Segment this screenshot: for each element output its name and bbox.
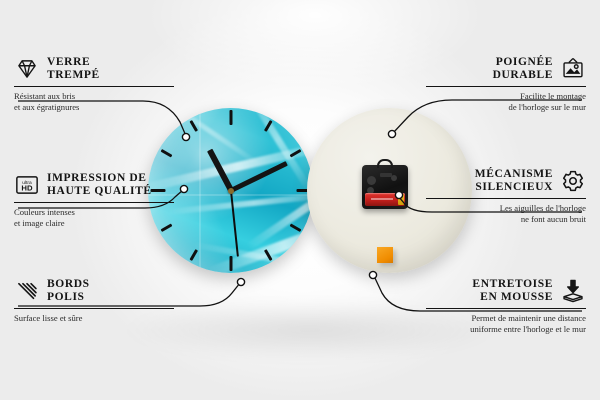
feature-title-line2: HAUTE QUALITÉ [47,185,152,197]
feature-title-line2: POLIS [47,291,85,303]
feature-title-line1: ENTRETOISE [472,278,553,290]
divider [14,86,174,87]
divider [426,86,586,87]
feature-verre-trempe: VERRE TREMPÉ Résistant aux bris et aux é… [14,56,174,113]
feature-title-line2: DURABLE [493,69,553,81]
feature-desc-line1: Les aiguilles de l'horloge [500,203,586,213]
divider [14,308,174,309]
feature-title-line1: MÉCANISME [475,168,553,180]
connector-endpoint-bords-polis [237,278,244,285]
feature-title-line1: VERRE [47,56,90,68]
feature-mecanisme-silencieux: MÉCANISME SILENCIEUX Les aiguilles de l'… [426,168,586,225]
feature-entretoise-en-mousse: ENTRETOISE EN MOUSSE Permet de maintenir… [426,278,586,335]
svg-text:HD: HD [21,184,33,193]
feature-desc-line1: Surface lisse et sûre [14,313,83,323]
divider [426,198,586,199]
feature-title-line2: EN MOUSSE [480,291,553,303]
connector-endpoint-mecanisme [395,191,402,198]
feature-bords-polis: BORDS POLIS Surface lisse et sûre [14,278,174,324]
feature-desc-line2: ne font aucun bruit [521,214,586,224]
connector-endpoint-verre-trempe [182,133,189,140]
feature-desc-line2: et aux égratignures [14,102,79,112]
feature-title-line1: BORDS [47,278,90,290]
connector-endpoint-impression [180,185,187,192]
feature-desc-line2: et image claire [14,218,65,228]
feature-title-line1: IMPRESSION DE [47,172,147,184]
feature-desc-line1: Permet de maintenir une distance [471,313,586,323]
feature-title-line2: SILENCIEUX [475,181,553,193]
ultra-hd-icon: ultra HD [14,172,40,198]
feature-desc-line2: uniforme entre l'horloge et le mur [470,324,586,334]
gear-icon [560,168,586,194]
connector-endpoint-poignee [388,130,395,137]
wall-mount-picture-icon [560,56,586,82]
feature-poignee-durable: POIGNÉE DURABLE Facilite le montage de l… [426,56,586,113]
infographic-stage: VERRE TREMPÉ Résistant aux bris et aux é… [0,0,600,400]
feature-desc-line1: Résistant aux bris [14,91,75,101]
foam-spacer-arrow-icon [560,278,586,304]
connector-endpoint-entretoise [369,271,376,278]
feature-desc-line1: Couleurs intenses [14,207,75,217]
divider [14,202,174,203]
feature-desc-line2: de l'horloge sur le mur [509,102,586,112]
feature-impression-haute-qualite: ultra HD IMPRESSION DE HAUTE QUALITÉ Cou… [14,172,174,229]
feature-title-line2: TREMPÉ [47,69,100,81]
divider [426,308,586,309]
diamond-icon [14,56,40,82]
feature-title-line1: POIGNÉE [496,56,553,68]
feature-desc-line1: Facilite le montage [520,91,586,101]
polished-edges-icon [14,278,40,304]
